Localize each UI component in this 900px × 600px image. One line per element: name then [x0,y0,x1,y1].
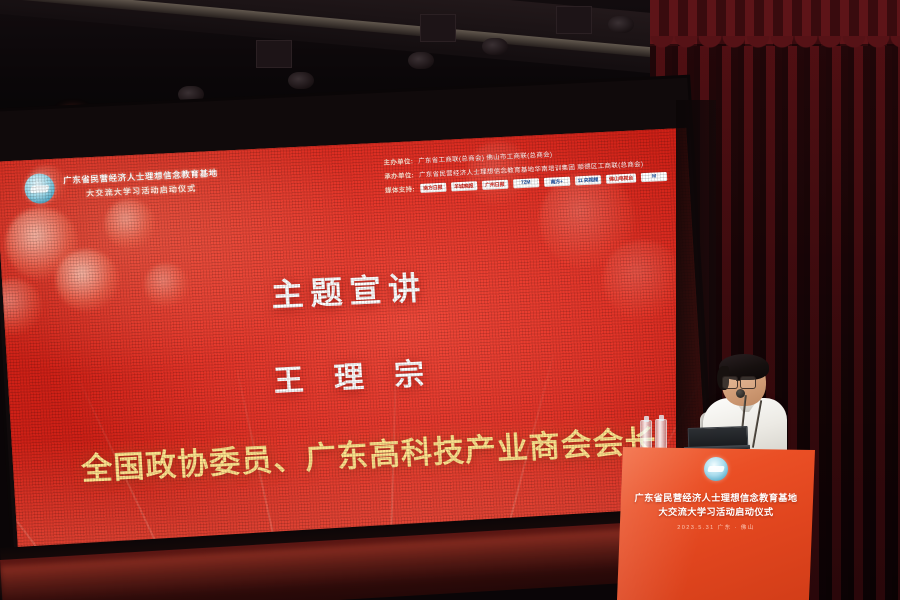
truss-fixture [420,14,456,42]
podium-line1: 广东省民营经济人士理想信念教育基地 [617,490,815,504]
screen-surface: 广东省民营经济人士理想信念教育基地 大交流大学习活动启动仪式 主办单位: 广东省… [0,128,710,561]
emblem-icon [704,457,728,481]
stage-scene: 广东省民营经济人士理想信念教育基地 大交流大学习活动启动仪式 主办单位: 广东省… [0,0,900,600]
led-screen: 广东省民营经济人士理想信念教育基地 大交流大学习活动启动仪式 主办单位: 广东省… [0,78,715,581]
glasses-lens-right [740,376,756,389]
podium: 广东省民营经济人士理想信念教育基地 大交流大学习活动启动仪式 2023.5.31… [617,447,815,600]
water-bottle [655,419,667,451]
curtain-scallop [650,36,900,62]
led-pixel-grid [0,128,710,561]
stage-light-icon [482,38,508,55]
truss-fixture [556,6,592,34]
stage-light-icon [608,16,634,33]
podium-date-location: 2023.5.31 广东 · 佛山 [617,523,815,531]
stage-light-icon [288,72,314,89]
truss-fixture [256,40,292,68]
stage-light-icon [178,86,204,103]
stage-light-icon [408,52,434,69]
eyeglasses-icon [722,376,756,387]
podium-line2: 大交流大学习活动启动仪式 [617,504,815,518]
glasses-lens-left [722,376,738,389]
water-bottle [640,420,652,452]
